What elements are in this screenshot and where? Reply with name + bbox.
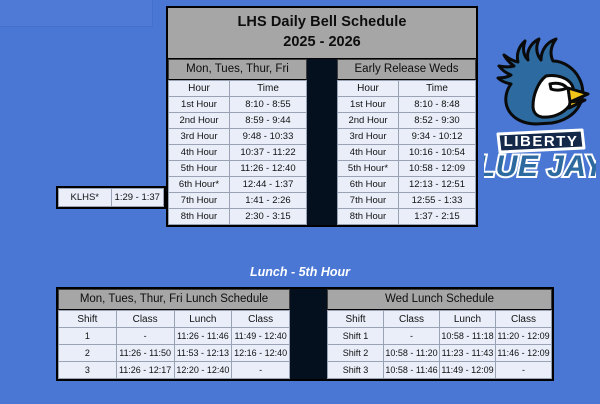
- table-row: 4th Hour 10:37 - 11:22: [169, 145, 307, 161]
- cell-time: 1:37 - 2:15: [399, 209, 476, 225]
- cell-class-2: 12:16 - 12:40: [232, 345, 290, 362]
- cell-hour: 6th Hour*: [169, 177, 230, 193]
- column-header-class-1: Class: [384, 311, 440, 328]
- column-header-time: Time: [230, 81, 307, 97]
- weekday-schedule-table: Hour Time 1st Hour 8:10 - 8:55 2nd Hour …: [168, 80, 307, 225]
- table-header-row: Hour Time: [169, 81, 307, 97]
- cell-hour: 3rd Hour: [338, 129, 399, 145]
- table-header-row: Shift Class Lunch Class: [328, 311, 552, 328]
- bluejay-head-icon: LIBERTY BLUE JAYS: [484, 24, 596, 194]
- table-row: 3rd Hour 9:34 - 10:12: [338, 129, 476, 145]
- cell-class-2: 11:49 - 12:40: [232, 328, 290, 345]
- cell-hour: 5th Hour: [169, 161, 230, 177]
- cell-hour: 1st Hour: [338, 97, 399, 113]
- cell-shift: 3: [59, 362, 117, 379]
- cell-hour: 8th Hour: [169, 209, 230, 225]
- cell-time: 10:16 - 10:54: [399, 145, 476, 161]
- cell-shift: 1: [59, 328, 117, 345]
- cell-time: 8:10 - 8:48: [399, 97, 476, 113]
- wednesday-lunch-column: Wed Lunch Schedule Shift Class Lunch Cla…: [327, 289, 552, 379]
- cell-class-1: 10:58 - 11:20: [384, 345, 440, 362]
- cell-hour: 4th Hour: [338, 145, 399, 161]
- logo-school-name: LIBERTY: [504, 133, 579, 150]
- cell-time: 12:44 - 1:37: [230, 177, 307, 193]
- cell-shift: Shift 3: [328, 362, 384, 379]
- weekday-lunch-body: 1 - 11:26 - 11:46 11:49 - 12:40 2 11:26 …: [59, 328, 290, 379]
- cell-class-2: 11:20 - 12:09: [496, 328, 552, 345]
- early-release-schedule-column: Early Release Weds Hour Time 1st Hour 8:…: [337, 59, 476, 225]
- weekday-schedule-header: Mon, Tues, Thur, Fri: [168, 59, 307, 80]
- table-header-row: Shift Class Lunch Class: [59, 311, 290, 328]
- column-header-lunch: Lunch: [440, 311, 496, 328]
- bell-schedule-columns: Mon, Tues, Thur, Fri Hour Time 1st Hour …: [168, 59, 476, 225]
- column-header-class-1: Class: [116, 311, 174, 328]
- cell-lunch: 11:26 - 11:46: [174, 328, 232, 345]
- klhs-table: KLHS* 1:29 - 1:37: [58, 188, 164, 207]
- table-row: 1st Hour 8:10 - 8:48: [338, 97, 476, 113]
- cell-time: 8:59 - 9:44: [230, 113, 307, 129]
- column-header-time: Time: [399, 81, 476, 97]
- cell-time: 1:41 - 2:26: [230, 193, 307, 209]
- table-row: 7th Hour 12:55 - 1:33: [338, 193, 476, 209]
- table-row: 4th Hour 10:16 - 10:54: [338, 145, 476, 161]
- cell-time: 9:34 - 10:12: [399, 129, 476, 145]
- cell-hour: 5th Hour*: [338, 161, 399, 177]
- table-row: 3rd Hour 9:48 - 10:33: [169, 129, 307, 145]
- liberty-blue-jays-logo: LIBERTY BLUE JAYS: [484, 24, 596, 194]
- cell-lunch: 10:58 - 11:18: [440, 328, 496, 345]
- cell-class-1: -: [384, 328, 440, 345]
- column-header-shift: Shift: [59, 311, 117, 328]
- weekday-schedule-column: Mon, Tues, Thur, Fri Hour Time 1st Hour …: [168, 59, 307, 225]
- cell-hour: 6th Hour: [338, 177, 399, 193]
- cell-time: 9:48 - 10:33: [230, 129, 307, 145]
- cell-hour: 7th Hour: [338, 193, 399, 209]
- cell-shift: Shift 2: [328, 345, 384, 362]
- table-row: 5th Hour* 10:58 - 12:09: [338, 161, 476, 177]
- weekday-lunch-table: Shift Class Lunch Class 1 - 11:26 - 11:4…: [58, 310, 290, 379]
- cell-hour: 2nd Hour: [169, 113, 230, 129]
- column-header-shift: Shift: [328, 311, 384, 328]
- bell-schedule-title: LHS Daily Bell Schedule 2025 - 2026: [168, 8, 476, 59]
- logo-mascot-name: BLUE JAYS: [484, 150, 596, 183]
- table-row: 1 - 11:26 - 11:46 11:49 - 12:40: [59, 328, 290, 345]
- cell-class-2: -: [496, 362, 552, 379]
- title-line-1: LHS Daily Bell Schedule: [168, 13, 476, 32]
- cell-lunch: 12:20 - 12:40: [174, 362, 232, 379]
- cell-class-2: -: [232, 362, 290, 379]
- table-row: Shift 1 - 10:58 - 11:18 11:20 - 12:09: [328, 328, 552, 345]
- table-row: 6th Hour* 12:44 - 1:37: [169, 177, 307, 193]
- weekday-lunch-header: Mon, Tues, Thur, Fri Lunch Schedule: [58, 289, 290, 310]
- cell-lunch: 11:53 - 12:13: [174, 345, 232, 362]
- table-row: 3 11:26 - 12:17 12:20 - 12:40 -: [59, 362, 290, 379]
- table-row: Shift 2 10:58 - 11:20 11:23 - 11:43 11:4…: [328, 345, 552, 362]
- background-artifact: [0, 0, 153, 27]
- column-header-hour: Hour: [338, 81, 399, 97]
- cell-time: 8:52 - 9:30: [399, 113, 476, 129]
- cell-klhs-label: KLHS*: [59, 189, 112, 207]
- cell-class-2: 11:46 - 12:09: [496, 345, 552, 362]
- column-header-lunch: Lunch: [174, 311, 232, 328]
- slide-background: LHS Daily Bell Schedule 2025 - 2026 Mon,…: [0, 0, 600, 404]
- lunch-column-divider: [290, 289, 327, 379]
- table-header-row: Hour Time: [338, 81, 476, 97]
- cell-hour: 1st Hour: [169, 97, 230, 113]
- cell-hour: 2nd Hour: [338, 113, 399, 129]
- cell-shift: 2: [59, 345, 117, 362]
- lunch-section-banner: Lunch - 5th Hour: [0, 265, 600, 279]
- column-header-hour: Hour: [169, 81, 230, 97]
- table-row: 2 11:26 - 11:50 11:53 - 12:13 12:16 - 12…: [59, 345, 290, 362]
- column-divider: [307, 59, 337, 225]
- klhs-row: KLHS* 1:29 - 1:37: [56, 186, 166, 209]
- cell-hour: 4th Hour: [169, 145, 230, 161]
- early-release-schedule-body: 1st Hour 8:10 - 8:48 2nd Hour 8:52 - 9:3…: [338, 97, 476, 225]
- cell-hour: 3rd Hour: [169, 129, 230, 145]
- wednesday-lunch-table: Shift Class Lunch Class Shift 1 - 10:58 …: [327, 310, 552, 379]
- cell-class-1: -: [116, 328, 174, 345]
- bell-schedule-panel: LHS Daily Bell Schedule 2025 - 2026 Mon,…: [166, 6, 478, 227]
- table-row: Shift 3 10:58 - 11:46 11:49 - 12:09 -: [328, 362, 552, 379]
- table-row: 2nd Hour 8:52 - 9:30: [338, 113, 476, 129]
- cell-hour: 8th Hour: [338, 209, 399, 225]
- cell-lunch: 11:23 - 11:43: [440, 345, 496, 362]
- cell-time: 2:30 - 3:15: [230, 209, 307, 225]
- cell-time: 10:37 - 11:22: [230, 145, 307, 161]
- early-release-schedule-table: Hour Time 1st Hour 8:10 - 8:48 2nd Hour …: [337, 80, 476, 225]
- cell-class-1: 11:26 - 11:50: [116, 345, 174, 362]
- early-release-schedule-header: Early Release Weds: [337, 59, 476, 80]
- wednesday-lunch-body: Shift 1 - 10:58 - 11:18 11:20 - 12:09 Sh…: [328, 328, 552, 379]
- cell-class-1: 11:26 - 12:17: [116, 362, 174, 379]
- table-row: 6th Hour 12:13 - 12:51: [338, 177, 476, 193]
- cell-time: 11:26 - 12:40: [230, 161, 307, 177]
- cell-shift: Shift 1: [328, 328, 384, 345]
- weekday-lunch-column: Mon, Tues, Thur, Fri Lunch Schedule Shif…: [58, 289, 290, 379]
- cell-time: 12:55 - 1:33: [399, 193, 476, 209]
- cell-hour: 7th Hour: [169, 193, 230, 209]
- weekday-schedule-body: 1st Hour 8:10 - 8:55 2nd Hour 8:59 - 9:4…: [169, 97, 307, 225]
- column-header-class-2: Class: [496, 311, 552, 328]
- table-row: 1st Hour 8:10 - 8:55: [169, 97, 307, 113]
- cell-class-1: 10:58 - 11:46: [384, 362, 440, 379]
- table-row: 8th Hour 1:37 - 2:15: [338, 209, 476, 225]
- cell-time: 10:58 - 12:09: [399, 161, 476, 177]
- table-row: 7th Hour 1:41 - 2:26: [169, 193, 307, 209]
- lunch-schedule-panel: Mon, Tues, Thur, Fri Lunch Schedule Shif…: [56, 287, 554, 381]
- table-row: 2nd Hour 8:59 - 9:44: [169, 113, 307, 129]
- cell-klhs-time: 1:29 - 1:37: [111, 189, 164, 207]
- cell-time: 8:10 - 8:55: [230, 97, 307, 113]
- table-row: KLHS* 1:29 - 1:37: [59, 189, 164, 207]
- wednesday-lunch-header: Wed Lunch Schedule: [327, 289, 552, 310]
- cell-lunch: 11:49 - 12:09: [440, 362, 496, 379]
- table-row: 5th Hour 11:26 - 12:40: [169, 161, 307, 177]
- column-header-class-2: Class: [232, 311, 290, 328]
- title-line-2: 2025 - 2026: [168, 32, 476, 52]
- table-row: 8th Hour 2:30 - 3:15: [169, 209, 307, 225]
- cell-time: 12:13 - 12:51: [399, 177, 476, 193]
